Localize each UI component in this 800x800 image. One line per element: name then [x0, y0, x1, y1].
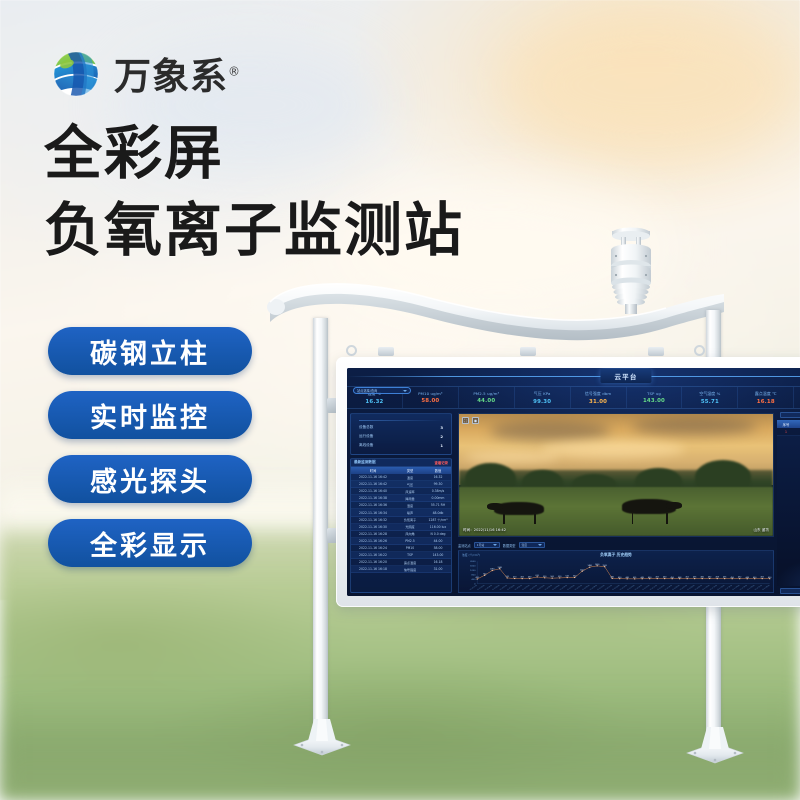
- metric-dewpoint[interactable]: 露点温度 ℃ 16.18: [738, 387, 794, 408]
- cell-type: 降雨量: [395, 496, 425, 501]
- table-title: 最新监测数据: [354, 460, 376, 465]
- alarm-index: 1: [777, 430, 795, 434]
- svg-text:11-15 18:00: 11-15 18:00: [477, 585, 486, 591]
- stat-accent-line: [359, 420, 443, 421]
- svg-text:11-16 20:00: 11-16 20:00: [672, 585, 681, 591]
- cell-type: 风向角: [395, 531, 425, 536]
- stat-value: 1: [440, 443, 443, 448]
- camera-cloud-lit: [465, 451, 559, 463]
- svg-text:11-17 04:00: 11-17 04:00: [732, 585, 741, 591]
- camera-cow-leg: [534, 514, 536, 524]
- svg-text:400: 400: [471, 579, 476, 581]
- cell-time: 2022-11-16 16:38: [351, 496, 395, 500]
- svg-text:460: 460: [663, 577, 666, 579]
- svg-text:11-17 06:00: 11-17 06:00: [747, 585, 756, 591]
- alarm-row[interactable]: 1 2022-11-16 16:12:08 PM2.5浓度超过预警阈值，请注意防…: [777, 428, 800, 436]
- svg-text:2000: 2000: [470, 561, 476, 563]
- station-select-value: 1号站: [477, 543, 484, 547]
- map-terrain-glow: [777, 493, 800, 586]
- support-post-left: [313, 318, 328, 730]
- alarm-col-time: 报警时间: [795, 422, 800, 427]
- cell-type: 负氧离子: [395, 517, 425, 522]
- camera-cow-leg: [503, 514, 505, 524]
- svg-text:11-16 09:00: 11-16 09:00: [589, 585, 598, 591]
- svg-text:450: 450: [618, 577, 621, 579]
- ultrasonic-weather-sensor-icon: [596, 222, 666, 314]
- metric-pm10[interactable]: PM10 ug/m³ 58.00: [403, 387, 459, 408]
- table-row[interactable]: 2022-11-16 16:36湿度55.71 RH: [351, 502, 451, 509]
- svg-text:440: 440: [626, 577, 629, 579]
- svg-text:11-15 17:00: 11-15 17:00: [469, 585, 478, 591]
- cell-type: 噪声: [395, 510, 425, 515]
- cell-time: 2022-11-16 16:32: [351, 518, 395, 522]
- cell-time: 2022-11-16 16:30: [351, 525, 395, 529]
- alarm-column-headers: 序号 报警时间 报警信息: [777, 420, 800, 428]
- chart-canvas: 040080012001600200042011-15 17:0076011-1…: [459, 559, 773, 592]
- alarm-time: 2022-11-16 16:12:08: [795, 430, 800, 434]
- camera-toolbar: ⛶ ◉: [462, 417, 479, 424]
- column-header-type: 类型: [395, 468, 425, 473]
- table-header-bar: 最新监测数据 查看记录: [351, 459, 451, 467]
- control-label-type: 数据类型: [503, 543, 516, 548]
- svg-text:11-17 02:00: 11-17 02:00: [717, 585, 726, 591]
- svg-text:1200: 1200: [470, 570, 476, 572]
- chart-title: 负氧离子 历史趋势: [600, 552, 632, 558]
- svg-text:11-16 07:00: 11-16 07:00: [574, 585, 583, 591]
- stat-row-offline: 离线设备 1: [359, 443, 443, 448]
- svg-text:450: 450: [648, 577, 651, 579]
- alarm-col-index: 序号: [777, 422, 795, 427]
- metric-label: 露点温度 ℃: [755, 391, 777, 397]
- metric-value: 58.00: [421, 398, 439, 404]
- svg-text:11-15 22:00: 11-15 22:00: [507, 585, 516, 591]
- selector-value: 站点选择/查询: [357, 388, 377, 393]
- svg-text:452: 452: [738, 577, 741, 579]
- svg-text:11-17 05:00: 11-17 05:00: [739, 585, 748, 591]
- cell-value: 58.00: [425, 546, 451, 550]
- cell-value: 143.00: [425, 553, 451, 557]
- svg-text:11-16 04:00: 11-16 04:00: [552, 585, 561, 591]
- center-column: ⛶ ◉ 时间：2022/11/16 16:42 山东 潍坊 监测站点 1号站 数…: [455, 410, 777, 596]
- svg-text:455: 455: [656, 577, 659, 579]
- svg-text:11-16 05:00: 11-16 05:00: [559, 585, 568, 591]
- chevron-down-icon: [403, 390, 407, 392]
- svg-text:11-16 01:00: 11-16 01:00: [529, 585, 538, 591]
- chevron-down-icon: [538, 544, 542, 546]
- btn-realtime-data[interactable]: 实时数据: [780, 412, 800, 418]
- cell-type: PM2.5: [395, 539, 425, 543]
- metric-label: PM10 ug/m³: [418, 391, 443, 396]
- camera-cow-head: [487, 503, 503, 510]
- svg-text:1120: 1120: [580, 569, 584, 571]
- cell-time: 2022-11-16 16:40: [351, 489, 395, 493]
- mount-tab: [648, 347, 664, 356]
- cell-time: 2022-11-16 16:22: [351, 553, 395, 557]
- svg-text:11-16 00:00: 11-16 00:00: [522, 585, 531, 591]
- svg-text:452: 452: [686, 577, 689, 579]
- camera-image: [459, 414, 773, 536]
- svg-text:11-17 01:00: 11-17 01:00: [709, 585, 718, 591]
- chevron-down-icon: [493, 544, 497, 546]
- camera-cloud: [490, 421, 609, 441]
- trend-chart: 浓度 (个/cm³) 负氧离子 历史趋势 0400800120016002000…: [458, 550, 774, 593]
- alarm-panel-body: [777, 436, 800, 586]
- svg-text:11-17 08:00: 11-17 08:00: [762, 585, 771, 591]
- svg-text:11-16 12:00: 11-16 12:00: [612, 585, 621, 591]
- mount-hook-right: [694, 345, 705, 356]
- svg-text:455: 455: [521, 577, 524, 579]
- svg-text:462: 462: [708, 577, 711, 579]
- svg-text:11-16 06:00: 11-16 06:00: [567, 585, 576, 591]
- svg-text:1600: 1600: [595, 564, 599, 566]
- dashboard-header: 云平台 2022年11月16日 16:42: [347, 368, 800, 385]
- metric-label: PM2.5 ug/m³: [473, 391, 499, 396]
- cell-type: 气压: [395, 482, 425, 487]
- dashboard-title: 云平台: [600, 369, 651, 383]
- metric-signal[interactable]: 信号强度 dbm 31.00: [571, 387, 627, 408]
- table-row[interactable]: 2022-11-16 16:26PM2.544.00: [351, 538, 451, 545]
- metric-label: TSP ug: [647, 391, 661, 396]
- btn-device-manage[interactable]: 设备管理: [780, 588, 800, 594]
- cell-value: 0.00mm: [425, 496, 451, 500]
- metric-value: 44.00: [477, 398, 495, 404]
- svg-text:1340: 1340: [497, 567, 501, 569]
- cell-type: 温度: [395, 475, 425, 480]
- table-row[interactable]: 2022-11-16 16:40风速率0.38m/s: [351, 488, 451, 495]
- svg-text:11-16 23:00: 11-16 23:00: [694, 585, 703, 591]
- dashboard-body: 设备总数 3 运行设备 2 离线设备 1: [347, 410, 800, 596]
- cell-value: N 0.0 deg: [425, 532, 451, 536]
- cell-value: 48.0db: [425, 511, 451, 515]
- metric-value: 16.18: [757, 399, 775, 405]
- svg-text:500: 500: [551, 576, 554, 578]
- header-ribbon: [347, 376, 800, 377]
- svg-text:11-15 23:00: 11-15 23:00: [514, 585, 523, 591]
- metric-value: 99.30: [533, 399, 551, 405]
- stat-value: 3: [440, 425, 443, 430]
- cell-value: 44.00: [425, 539, 451, 543]
- svg-text:11-16 16:00: 11-16 16:00: [642, 585, 651, 591]
- station-selector-dropdown[interactable]: 站点选择/查询: [353, 387, 411, 394]
- camera-timestamp: 时间：2022/11/16 16:42: [463, 528, 506, 533]
- svg-text:458: 458: [716, 577, 719, 579]
- svg-text:11-16 13:00: 11-16 13:00: [619, 585, 628, 591]
- right-column: 实时数据 历史数据 序号 报警时间 报警信息 1 2022-11-16 16:1…: [777, 410, 800, 596]
- cell-value: 16.32: [425, 475, 451, 479]
- column-header-time: 时间: [351, 468, 395, 473]
- chart-unit-label: 浓度 (个/cm³): [462, 553, 480, 557]
- table-row[interactable]: 2022-11-16 16:32负氧离子1287 个/cm³: [351, 517, 451, 524]
- cell-value: 55.71 RH: [425, 503, 451, 507]
- svg-text:450: 450: [671, 577, 674, 579]
- svg-text:450: 450: [768, 577, 771, 579]
- svg-text:11-15 19:00: 11-15 19:00: [484, 585, 493, 591]
- station-select[interactable]: 1号站: [474, 542, 500, 548]
- cell-time: 2022-11-16 16:20: [351, 560, 395, 564]
- right-button-bar-bottom: 设备管理 系统设置: [777, 586, 800, 596]
- svg-text:448: 448: [678, 577, 681, 579]
- svg-text:11-15 20:00: 11-15 20:00: [492, 585, 501, 591]
- svg-text:450: 450: [731, 577, 734, 579]
- metric-value: 143.00: [643, 398, 665, 404]
- camera-cloud-lit: [541, 441, 685, 458]
- table-row[interactable]: 2022-11-16 16:42气压99.30: [351, 481, 451, 488]
- svg-text:11-16 18:00: 11-16 18:00: [657, 585, 666, 591]
- display-screen[interactable]: 云平台 2022年11月16日 16:42 温度 ℃ 16.32 PM10 ug…: [347, 368, 800, 596]
- cell-type: 信号强度: [395, 567, 425, 572]
- svg-text:11-16 11:00: 11-16 11:00: [604, 585, 613, 591]
- table-row[interactable]: 2022-11-16 16:24PM1058.00: [351, 545, 451, 552]
- base-plate-left: [288, 715, 356, 757]
- metric-pressure[interactable]: 气压 KPa 99.30: [515, 387, 571, 408]
- metric-strip: 温度 ℃ 16.32 PM10 ug/m³ 58.00 PM2.5 ug/m³ …: [347, 386, 800, 409]
- cell-time: 2022-11-16 16:18: [351, 567, 395, 571]
- table-row[interactable]: 2022-11-16 16:18信号强度31.00: [351, 566, 451, 573]
- camera-live-view[interactable]: ⛶ ◉ 时间：2022/11/16 16:42 山东 潍坊: [458, 413, 774, 537]
- svg-text:11-17 07:00: 11-17 07:00: [754, 585, 763, 591]
- column-header-value: 数值: [425, 468, 451, 473]
- cell-type: PM10: [395, 546, 425, 550]
- table-row[interactable]: 2022-11-16 16:20露点温度16.18: [351, 559, 451, 566]
- table-row[interactable]: 2022-11-16 16:28风向角N 0.0 deg: [351, 531, 451, 538]
- svg-text:450: 450: [753, 577, 756, 579]
- svg-text:0: 0: [474, 584, 476, 586]
- right-button-bar: 实时数据 历史数据: [777, 410, 800, 420]
- stat-key: 运行设备: [359, 434, 373, 439]
- svg-text:11-16 21:00: 11-16 21:00: [679, 585, 688, 591]
- svg-text:435: 435: [633, 577, 636, 579]
- table-body: 2022-11-16 16:42温度16.322022-11-16 16:42气…: [351, 474, 451, 573]
- svg-text:11-16 03:00: 11-16 03:00: [544, 585, 553, 591]
- svg-text:530: 530: [543, 576, 546, 578]
- metric-label: 气压 KPa: [534, 391, 551, 397]
- cell-type: TSP: [395, 553, 425, 557]
- svg-text:11-17 00:00: 11-17 00:00: [702, 585, 711, 591]
- svg-text:420: 420: [476, 577, 479, 579]
- svg-text:520: 520: [558, 576, 561, 578]
- svg-text:1180: 1180: [490, 569, 494, 571]
- cell-time: 2022-11-16 16:34: [351, 511, 395, 515]
- camera-cow-leg: [666, 513, 668, 524]
- mount-tab: [520, 347, 536, 356]
- svg-text:11-16 15:00: 11-16 15:00: [634, 585, 643, 591]
- led-display-panel: 云平台 2022年11月16日 16:42 温度 ℃ 16.32 PM10 ug…: [336, 357, 800, 607]
- cell-time: 2022-11-16 16:42: [351, 475, 395, 479]
- metric-label: 信号强度 dbm: [585, 391, 611, 397]
- metric-humidity[interactable]: 空气湿度 % 55.71: [682, 387, 738, 408]
- latest-data-table: 最新监测数据 查看记录 时间 类型 数值 2022-11-16 16:42温度1…: [350, 458, 452, 593]
- camera-cloud: [632, 418, 758, 435]
- cell-value: 1287 个/cm³: [425, 517, 451, 522]
- svg-text:545: 545: [566, 576, 569, 578]
- cell-value: 116.00 lux: [425, 525, 451, 529]
- table-row[interactable]: 2022-11-16 16:22TSP143.00: [351, 552, 451, 559]
- control-label-station: 监测站点: [458, 543, 471, 548]
- camera-cow-leg: [632, 513, 634, 524]
- cell-time: 2022-11-16 16:24: [351, 546, 395, 550]
- snapshot-icon[interactable]: ◉: [472, 417, 479, 424]
- svg-text:11-16 22:00: 11-16 22:00: [687, 585, 696, 591]
- cell-value: 0.38m/s: [425, 489, 451, 493]
- cell-time: 2022-11-16 16:42: [351, 482, 395, 486]
- svg-text:470: 470: [513, 577, 516, 579]
- camera-cow-head: [666, 502, 682, 509]
- svg-text:560: 560: [573, 576, 576, 578]
- metric-label: 空气湿度 %: [699, 391, 720, 397]
- stat-row-total: 设备总数 3: [359, 425, 443, 430]
- svg-text:480: 480: [611, 577, 614, 579]
- data-type-select[interactable]: 温度: [519, 542, 545, 548]
- table-column-headers: 时间 类型 数值: [351, 467, 451, 474]
- mount-hook-left: [346, 345, 357, 356]
- device-stats-card: 设备总数 3 运行设备 2 离线设备 1: [350, 413, 452, 455]
- base-plate-right: [681, 723, 749, 765]
- table-row[interactable]: 2022-11-16 16:42温度16.32: [351, 474, 451, 481]
- camera-location: 山东 潍坊: [753, 528, 769, 533]
- svg-text:455: 455: [693, 577, 696, 579]
- svg-text:11-17 03:00: 11-17 03:00: [724, 585, 733, 591]
- svg-text:800: 800: [471, 575, 476, 577]
- svg-text:460: 460: [528, 577, 531, 579]
- metric-pm25[interactable]: PM2.5 ug/m³ 44.00: [459, 387, 515, 408]
- dashboard-ui: 云平台 2022年11月16日 16:42 温度 ℃ 16.32 PM10 ug…: [347, 368, 800, 596]
- svg-text:11-16 08:00: 11-16 08:00: [582, 585, 591, 591]
- stat-key: 离线设备: [359, 443, 373, 448]
- table-row[interactable]: 2022-11-16 16:38降雨量0.00mm: [351, 495, 451, 502]
- view-records-link[interactable]: 查看记录: [434, 460, 448, 465]
- svg-text:11-16 19:00: 11-16 19:00: [664, 585, 673, 591]
- cell-value: 99.30: [425, 482, 451, 486]
- cell-type: 光照度: [395, 524, 425, 529]
- side-clip-left: [327, 528, 336, 543]
- table-row[interactable]: 2022-11-16 16:30光照度116.00 lux: [351, 524, 451, 531]
- data-type-select-value: 温度: [522, 543, 528, 547]
- camera-controls: 监测站点 1号站 数据类型 温度: [455, 540, 777, 550]
- svg-text:760: 760: [483, 573, 486, 575]
- cell-value: 16.18: [425, 560, 451, 564]
- svg-text:11-16 17:00: 11-16 17:00: [649, 585, 658, 591]
- metric-value: 16.32: [365, 399, 383, 405]
- stat-value: 2: [440, 434, 443, 439]
- side-clip-left: [327, 398, 336, 413]
- svg-text:448: 448: [746, 577, 749, 579]
- metric-tsp[interactable]: TSP ug 143.00: [627, 387, 683, 408]
- stat-key: 设备总数: [359, 425, 373, 430]
- svg-text:11-16 02:00: 11-16 02:00: [537, 585, 546, 591]
- svg-text:445: 445: [641, 577, 644, 579]
- cell-type: 风速率: [395, 489, 425, 494]
- svg-text:11-16 10:00: 11-16 10:00: [597, 585, 606, 591]
- left-column: 设备总数 3 运行设备 2 离线设备 1: [347, 410, 455, 596]
- svg-text:1520: 1520: [602, 565, 606, 567]
- svg-text:455: 455: [761, 577, 764, 579]
- svg-text:610: 610: [536, 575, 539, 577]
- metric-noise[interactable]: 噪声 db 48.00: [794, 387, 800, 408]
- svg-text:1600: 1600: [470, 566, 476, 568]
- metric-value: 55.71: [701, 399, 719, 405]
- cell-time: 2022-11-16 16:28: [351, 532, 395, 536]
- mount-tab: [378, 347, 394, 356]
- metric-value: 31.00: [589, 399, 607, 405]
- fullscreen-icon[interactable]: ⛶: [462, 417, 469, 424]
- cell-type: 湿度: [395, 503, 425, 508]
- cell-time: 2022-11-16 16:26: [351, 539, 395, 543]
- cell-time: 2022-11-16 16:36: [351, 503, 395, 507]
- svg-text:520: 520: [506, 576, 509, 578]
- stat-row-online: 运行设备 2: [359, 434, 443, 439]
- cell-value: 31.00: [425, 567, 451, 571]
- table-row[interactable]: 2022-11-16 16:34噪声48.0db: [351, 509, 451, 516]
- cell-type: 露点温度: [395, 560, 425, 565]
- svg-text:11-16 14:00: 11-16 14:00: [627, 585, 636, 591]
- svg-text:1480: 1480: [587, 565, 591, 567]
- svg-text:460: 460: [701, 577, 704, 579]
- svg-text:455: 455: [723, 577, 726, 579]
- svg-text:11-15 21:00: 11-15 21:00: [499, 585, 508, 591]
